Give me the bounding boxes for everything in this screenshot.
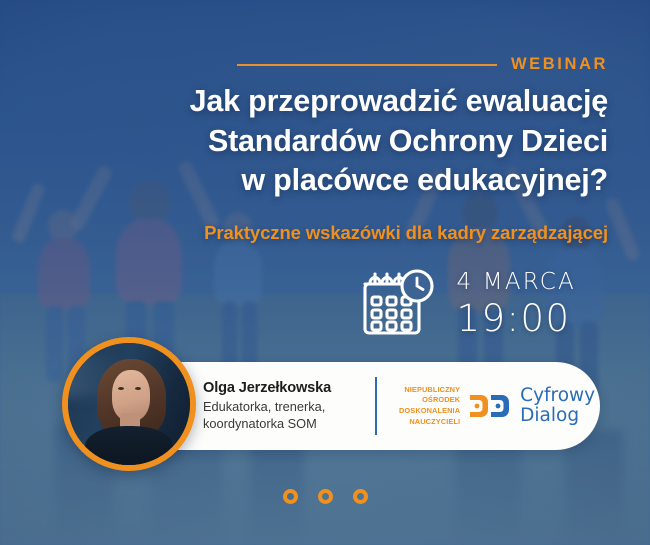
- speaker-role-line-2: koordynatorka SOM: [203, 416, 375, 433]
- institution-line-1: NIEPUBLICZNY: [399, 385, 460, 396]
- avatar: [62, 337, 196, 471]
- logo-group: NIEPUBLICZNY OŚRODEK DOSKONALENIA NAUCZY…: [399, 385, 595, 427]
- carousel-dot-3[interactable]: [353, 489, 368, 504]
- carousel-dot-2[interactable]: [318, 489, 333, 504]
- speech-bubbles-icon: [467, 390, 513, 422]
- page-title: Jak przeprowadzić ewaluację Standardów O…: [30, 82, 608, 201]
- event-datetime: 4 MARCA 19:00: [358, 266, 576, 342]
- brand-name: Cyfrowy Dialog: [520, 386, 595, 425]
- card-divider: [375, 377, 377, 435]
- webinar-label: WEBINAR: [511, 55, 608, 74]
- institution-name: NIEPUBLICZNY OŚRODEK DOSKONALENIA NAUCZY…: [399, 385, 460, 427]
- brand-line-2: Dialog: [520, 406, 595, 426]
- institution-line-3: DOSKONALENIA: [399, 406, 460, 417]
- institution-line-2: OŚRODEK: [399, 395, 460, 406]
- institution-line-4: NAUCZYCIELI: [399, 417, 460, 428]
- headline-line-3: w placówce edukacyjnej?: [30, 161, 608, 201]
- eyebrow-rule: [237, 64, 497, 66]
- speaker-name: Olga Jerzełkowska: [203, 380, 375, 396]
- carousel-dots[interactable]: [0, 489, 650, 504]
- event-date: 4 MARCA: [456, 269, 576, 295]
- webinar-eyebrow-row: WEBINAR: [0, 55, 608, 74]
- page-subtitle: Praktyczne wskazówki dla kadry zarządzaj…: [30, 222, 608, 244]
- carousel-dot-1[interactable]: [283, 489, 298, 504]
- brand-line-1: Cyfrowy: [520, 386, 595, 406]
- calendar-clock-icon: [358, 266, 436, 342]
- speaker-role-line-1: Edukatorka, trenerka,: [203, 399, 375, 416]
- speaker-card: Olga Jerzełkowska Edukatorka, trenerka, …: [130, 362, 600, 450]
- headline-line-1: Jak przeprowadzić ewaluację: [30, 82, 608, 122]
- event-time: 19:00: [456, 297, 570, 340]
- speaker-photo: [68, 343, 190, 465]
- headline-line-2: Standardów Ochrony Dzieci: [30, 122, 608, 162]
